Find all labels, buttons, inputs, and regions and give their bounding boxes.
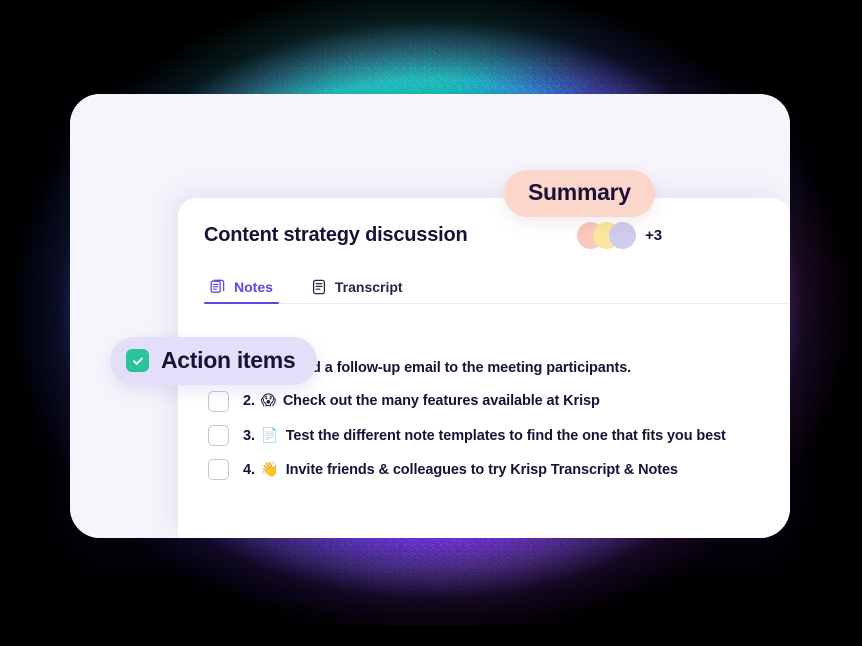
item-number: 4. bbox=[243, 462, 255, 478]
screaming-face-icon: 😱 bbox=[261, 393, 276, 409]
item-checkbox[interactable] bbox=[208, 459, 229, 480]
transcript-document-icon bbox=[311, 279, 327, 295]
tab-notes[interactable]: Notes bbox=[204, 275, 279, 304]
tabs-divider bbox=[204, 303, 790, 304]
list-item[interactable]: 3. 📄 Test the different note templates t… bbox=[208, 418, 764, 452]
list-item[interactable]: 4. 👋 Invite friends & colleagues to try … bbox=[208, 452, 764, 486]
note-tabs: Notes Transcript bbox=[204, 275, 764, 304]
item-checkbox[interactable] bbox=[208, 391, 229, 412]
participant-count-badge: +3 bbox=[645, 227, 662, 244]
app-window-card: Content strategy discussion +3 bbox=[70, 94, 790, 538]
item-text: 3. 📄 Test the different note templates t… bbox=[243, 427, 726, 444]
notes-stack-icon bbox=[210, 279, 226, 295]
action-items-label: Action items bbox=[161, 347, 295, 374]
tab-transcript-label: Transcript bbox=[335, 279, 403, 295]
tab-notes-label: Notes bbox=[234, 279, 273, 295]
item-label: Test the different note templates to fin… bbox=[286, 428, 726, 444]
item-label: Check out the many features available at… bbox=[283, 393, 600, 409]
item-number: 2. bbox=[243, 393, 255, 409]
document-icon: 📄 bbox=[261, 428, 279, 444]
screenshot-stage: Content strategy discussion +3 bbox=[0, 0, 862, 646]
action-items-heading-badge[interactable]: Action items bbox=[110, 337, 317, 385]
item-label: Invite friends & colleagues to try Krisp… bbox=[286, 462, 678, 478]
summary-badge[interactable]: Summary bbox=[504, 170, 655, 217]
item-label: Send a follow-up email to the meeting pa… bbox=[286, 360, 631, 376]
item-checkbox[interactable] bbox=[208, 425, 229, 446]
waving-hand-icon: 👋 bbox=[261, 462, 279, 478]
avatar[interactable] bbox=[609, 222, 636, 249]
item-number: 3. bbox=[243, 428, 255, 444]
list-item[interactable]: 2. 😱 Check out the many features availab… bbox=[208, 384, 764, 418]
participants[interactable]: +3 bbox=[577, 222, 662, 249]
item-text: 4. 👋 Invite friends & colleagues to try … bbox=[243, 461, 678, 478]
item-text: 2. 😱 Check out the many features availab… bbox=[243, 393, 600, 409]
avatar-group[interactable] bbox=[577, 222, 636, 249]
checked-checkbox-icon bbox=[126, 349, 149, 372]
note-header: Content strategy discussion +3 bbox=[204, 198, 764, 249]
tab-transcript[interactable]: Transcript bbox=[305, 275, 409, 304]
page-title: Content strategy discussion bbox=[204, 224, 468, 247]
